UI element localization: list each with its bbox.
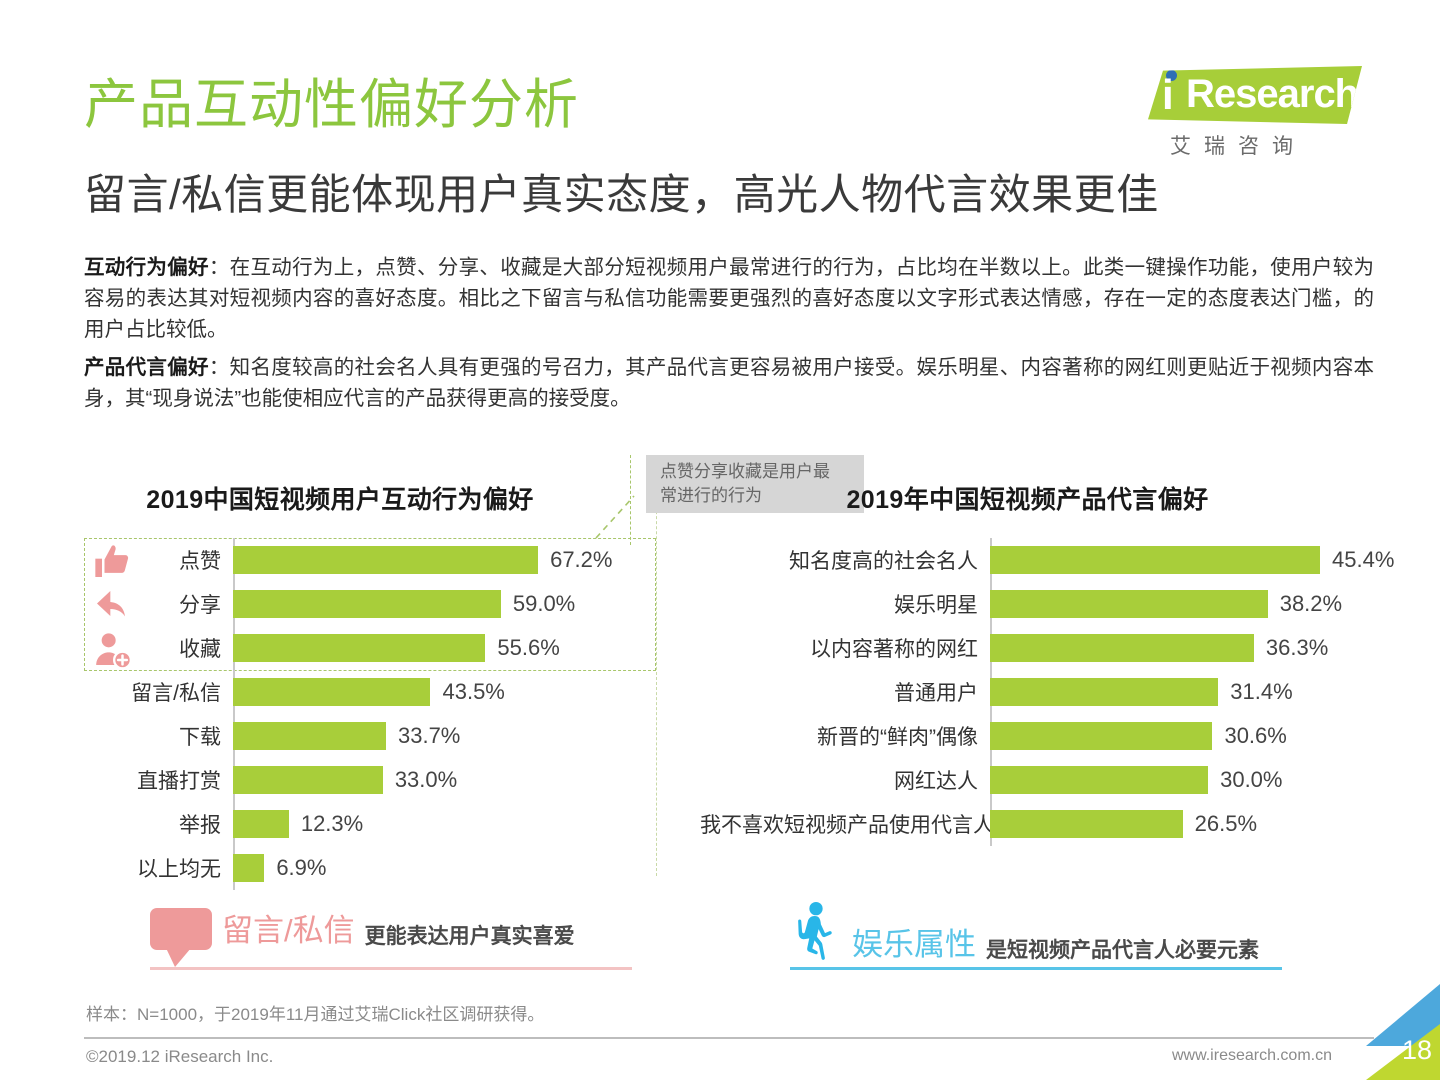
bar-row: 我不喜欢短视频产品使用代言人26.5% <box>700 802 1360 846</box>
bar-category-label: 直播打赏 <box>84 765 233 795</box>
bar-fill <box>990 634 1254 662</box>
bar-value-label: 43.5% <box>442 679 504 705</box>
bar-row: 以上均无6.9% <box>84 846 674 890</box>
bar-fill <box>233 546 538 574</box>
bar-track: 31.4% <box>990 670 1360 714</box>
bar-row: 点赞67.2% <box>84 538 674 582</box>
bar-row: 新晋的“鲜肉”偶像30.6% <box>700 714 1360 758</box>
bar-value-label: 36.3% <box>1266 635 1328 661</box>
annotation-right-row: 娱乐属性 是短视频产品代言人必要元素 <box>790 900 1290 964</box>
page-number: 18 <box>1402 1035 1432 1066</box>
bar-category-label: 新晋的“鲜肉”偶像 <box>700 721 990 751</box>
bar-category-label: 留言/私信 <box>84 677 233 707</box>
bar-fill <box>233 766 383 794</box>
slide-page: 产品互动性偏好分析 留言/私信更能体现用户真实态度，高光人物代言效果更佳 i R… <box>0 0 1440 1080</box>
bar-track: 12.3% <box>233 802 674 846</box>
chart-endorsement-preference: 2019年中国短视频产品代言偏好 知名度高的社会名人45.4%娱乐明星38.2%… <box>700 480 1360 846</box>
bar-row: 普通用户31.4% <box>700 670 1360 714</box>
annotation-right-highlight: 娱乐属性 <box>852 919 976 964</box>
bar-row: 网红达人30.0% <box>700 758 1360 802</box>
bar-fill <box>233 722 386 750</box>
bar-row: 知名度高的社会名人45.4% <box>700 538 1360 582</box>
speech-bubble-icon <box>150 908 212 950</box>
bar-value-label: 31.4% <box>1230 679 1292 705</box>
paragraph-1-body: ：在互动行为上，点赞、分享、收藏是大部分短视频用户最常进行的行为，占比均在半数以… <box>84 256 1374 341</box>
paragraph-interaction: 互动行为偏好：在互动行为上，点赞、分享、收藏是大部分短视频用户最常进行的行为，占… <box>84 252 1374 345</box>
bar-value-label: 30.0% <box>1220 767 1282 793</box>
chart-interaction-preference: 2019中国短视频用户互动行为偏好 <box>84 480 674 890</box>
bar-track: 33.7% <box>233 714 674 758</box>
bar-value-label: 67.2% <box>550 547 612 573</box>
bar-track: 45.4% <box>990 538 1360 582</box>
bar-value-label: 38.2% <box>1280 591 1342 617</box>
annotation-right-rule <box>790 967 1282 970</box>
bar-category-label: 我不喜欢短视频产品使用代言人 <box>700 809 990 839</box>
annotation-left-rest: 更能表达用户真实喜爱 <box>365 920 575 950</box>
website-url: www.iresearch.com.cn <box>1172 1047 1332 1065</box>
bar-value-label: 12.3% <box>301 811 363 837</box>
bar-track: 43.5% <box>233 670 674 714</box>
logo-chinese-name: 艾瑞咨询 <box>1170 130 1306 160</box>
bar-category-label: 分享 <box>84 589 233 619</box>
bar-fill <box>990 766 1208 794</box>
bar-row: 举报12.3% <box>84 802 674 846</box>
chart-left-bars: 点赞67.2%分享59.0%收藏55.6%留言/私信43.5%下载33.7%直播… <box>84 538 674 890</box>
bar-value-label: 26.5% <box>1195 811 1257 837</box>
bar-category-label: 下载 <box>84 721 233 751</box>
bar-category-label: 以内容著称的网红 <box>700 633 990 663</box>
bar-category-label: 收藏 <box>84 633 233 663</box>
iresearch-logo: i Research 艾瑞咨询 <box>1148 66 1378 170</box>
bar-row: 下载33.7% <box>84 714 674 758</box>
logo-mark-shape: i Research <box>1148 66 1362 124</box>
bar-fill <box>233 854 264 882</box>
bar-fill <box>990 678 1218 706</box>
bar-track: 33.0% <box>233 758 674 802</box>
bar-value-label: 45.4% <box>1332 547 1394 573</box>
bar-row: 直播打赏33.0% <box>84 758 674 802</box>
bar-category-label: 以上均无 <box>84 853 233 883</box>
logo-i-letter: i <box>1162 74 1174 116</box>
bar-fill <box>233 678 430 706</box>
footer-divider <box>84 1037 1374 1039</box>
bar-value-label: 30.6% <box>1224 723 1286 749</box>
source-note: 样本：N=1000，于2019年11月通过艾瑞Click社区调研获得。 <box>86 1000 544 1025</box>
bar-value-label: 55.6% <box>497 635 559 661</box>
annotation-right: 娱乐属性 是短视频产品代言人必要元素 <box>790 900 1290 964</box>
bar-track: 36.3% <box>990 626 1360 670</box>
paragraph-endorsement: 产品代言偏好：知名度较高的社会名人具有更强的号召力，其产品代言更容易被用户接受。… <box>84 352 1374 414</box>
bar-fill <box>233 590 501 618</box>
bar-value-label: 33.7% <box>398 723 460 749</box>
bar-category-label: 举报 <box>84 809 233 839</box>
annotation-left-rule <box>150 967 632 970</box>
annotation-left-row: 留言/私信 更能表达用户真实喜爱 <box>150 905 640 950</box>
copyright-text: ©2019.12 iResearch Inc. <box>86 1047 273 1067</box>
bar-category-label: 普通用户 <box>700 677 990 707</box>
chart-title-left: 2019中国短视频用户互动行为偏好 <box>90 480 590 516</box>
bar-row: 留言/私信43.5% <box>84 670 674 714</box>
bar-row: 娱乐明星38.2% <box>700 582 1360 626</box>
paragraph-2-body: ：知名度较高的社会名人具有更强的号召力，其产品代言更容易被用户接受。娱乐明星、内… <box>84 356 1374 410</box>
bar-value-label: 6.9% <box>276 855 326 881</box>
bar-row: 收藏55.6% <box>84 626 674 670</box>
bar-fill <box>990 810 1183 838</box>
bar-track: 6.9% <box>233 846 674 890</box>
bar-fill <box>233 810 289 838</box>
paragraph-1-lead: 互动行为偏好 <box>84 256 209 279</box>
bar-category-label: 网红达人 <box>700 765 990 795</box>
bar-track: 30.6% <box>990 714 1360 758</box>
bar-value-label: 33.0% <box>395 767 457 793</box>
bar-fill <box>990 546 1320 574</box>
bar-fill <box>990 590 1268 618</box>
bar-track: 26.5% <box>990 802 1360 846</box>
paragraph-2-lead: 产品代言偏好 <box>84 356 209 379</box>
bar-track: 67.2% <box>233 538 674 582</box>
bar-fill <box>233 634 485 662</box>
bar-value-label: 59.0% <box>513 591 575 617</box>
bar-category-label: 点赞 <box>84 545 233 575</box>
annotation-right-rest: 是短视频产品代言人必要元素 <box>986 934 1259 964</box>
dancing-person-icon <box>790 900 842 964</box>
bar-track: 38.2% <box>990 582 1360 626</box>
bar-row: 以内容著称的网红36.3% <box>700 626 1360 670</box>
annotation-left-highlight: 留言/私信 <box>222 905 355 950</box>
bar-track: 59.0% <box>233 582 674 626</box>
page-title: 产品互动性偏好分析 <box>84 76 579 135</box>
bar-row: 分享59.0% <box>84 582 674 626</box>
bar-fill <box>990 722 1212 750</box>
corner-decoration: 18 <box>1366 984 1440 1080</box>
bar-track: 30.0% <box>990 758 1360 802</box>
logo-wordmark: Research <box>1186 72 1358 116</box>
chart-right-bars: 知名度高的社会名人45.4%娱乐明星38.2%以内容著称的网红36.3%普通用户… <box>700 538 1360 846</box>
bar-category-label: 娱乐明星 <box>700 589 990 619</box>
annotation-left: 留言/私信 更能表达用户真实喜爱 <box>150 905 640 950</box>
chart-title-right: 2019年中国短视频产品代言偏好 <box>700 480 1355 516</box>
bar-category-label: 知名度高的社会名人 <box>700 545 990 575</box>
page-subtitle: 留言/私信更能体现用户真实态度，高光人物代言效果更佳 <box>84 172 1159 218</box>
bar-track: 55.6% <box>233 626 674 670</box>
